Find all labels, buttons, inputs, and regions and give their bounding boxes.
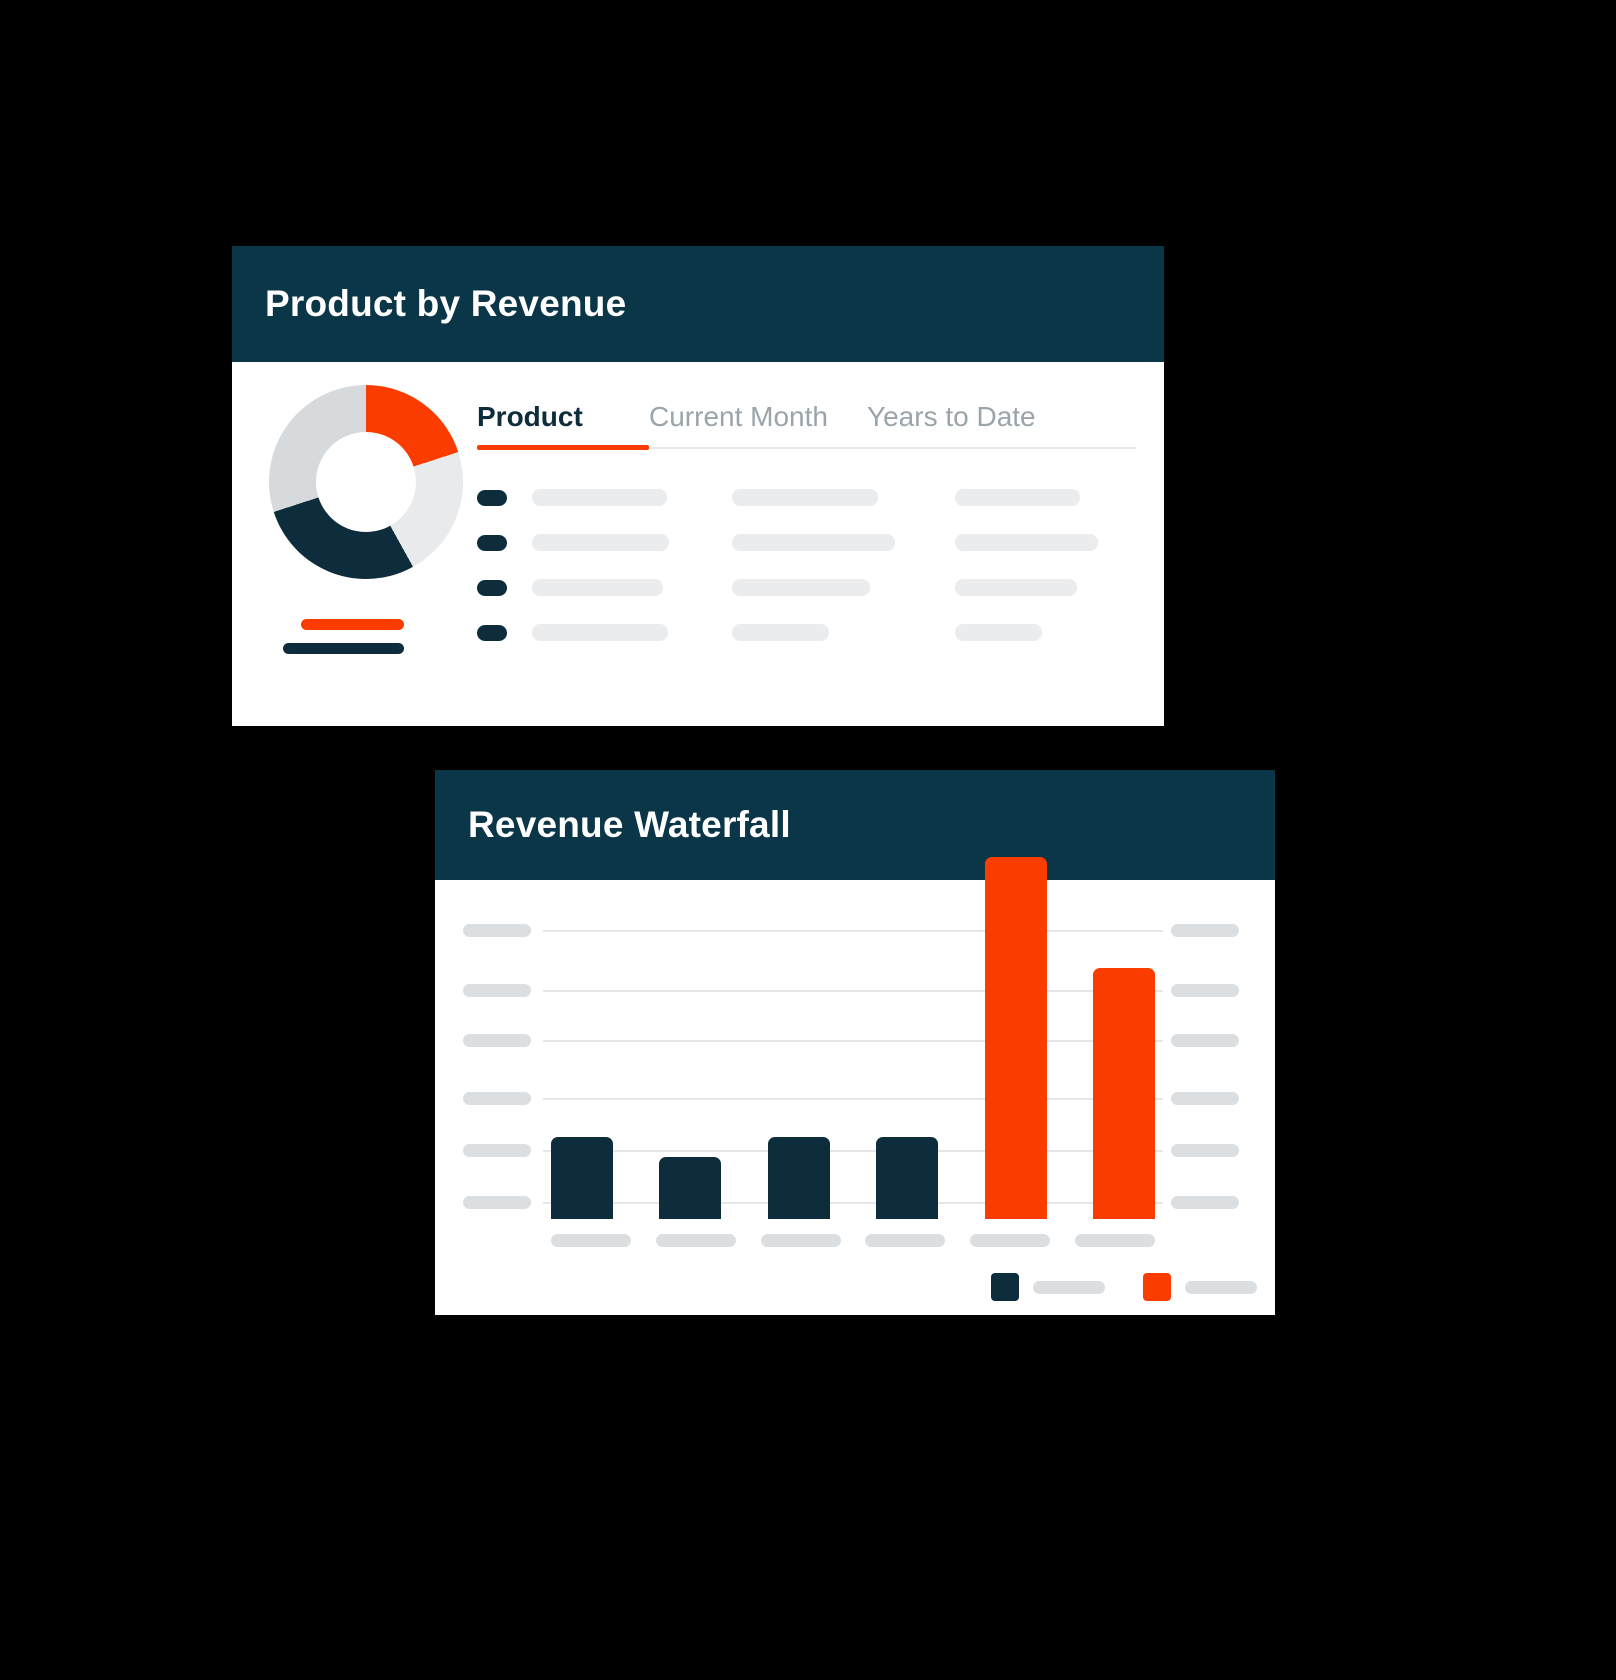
row-bullet-icon [477, 535, 507, 551]
bar[interactable] [551, 1137, 613, 1219]
waterfall-chart [435, 880, 1275, 1315]
bar[interactable] [768, 1137, 830, 1219]
axis-tick-placeholder [463, 1092, 531, 1105]
product-table-rows [477, 475, 1136, 655]
bar[interactable] [876, 1137, 938, 1219]
row-bullet-icon [477, 490, 507, 506]
product-content-row: Product Current Month Years to Date [232, 362, 1164, 667]
tab-product[interactable]: Product [477, 401, 649, 447]
donut-column [232, 362, 477, 667]
legend-label-placeholder [1033, 1281, 1105, 1294]
table-row[interactable] [477, 475, 1136, 520]
card-header-waterfall: Revenue Waterfall [435, 770, 1275, 880]
bar[interactable] [1093, 968, 1155, 1219]
x-axis-label-placeholder [970, 1234, 1050, 1247]
card-body-waterfall [435, 880, 1275, 1315]
bar-slot [551, 1137, 613, 1219]
bar-slot [768, 1137, 830, 1219]
axis-tick-placeholder [463, 924, 531, 937]
x-axis-label-placeholder [761, 1234, 841, 1247]
bar-slot [985, 857, 1047, 1219]
cell-placeholder [955, 489, 1080, 506]
cell-placeholder [955, 534, 1098, 551]
donut-legend-bar-orange [301, 619, 404, 630]
bar-slot [1093, 968, 1155, 1219]
axis-tick-placeholder [1171, 984, 1239, 997]
cell-placeholder [732, 534, 895, 551]
cell-placeholder [732, 489, 878, 506]
card-revenue-waterfall: Revenue Waterfall [435, 770, 1275, 1315]
axis-tick-placeholder [463, 984, 531, 997]
card-header-product: Product by Revenue [232, 246, 1164, 362]
chart-legend [435, 1273, 1275, 1301]
x-axis-label-placeholder [656, 1234, 736, 1247]
axis-tick-placeholder [1171, 1092, 1239, 1105]
legend-item[interactable] [991, 1273, 1105, 1301]
x-axis-label-placeholder [551, 1234, 631, 1247]
tab-bar: Product Current Month Years to Date [477, 387, 1136, 449]
x-axis-label-placeholder [1075, 1234, 1155, 1247]
donut-hole [316, 432, 416, 532]
cell-placeholder [532, 624, 668, 641]
waterfall-title: Revenue Waterfall [468, 804, 791, 846]
y-axis-labels-left [463, 880, 535, 1315]
axis-tick-placeholder [463, 1034, 531, 1047]
row-bullet-icon [477, 625, 507, 641]
legend-label-placeholder [1185, 1281, 1257, 1294]
page-title: Product by Revenue [265, 283, 626, 325]
x-axis-labels [543, 1234, 1163, 1247]
donut-legend-bar-teal [283, 643, 404, 654]
tab-current-month[interactable]: Current Month [649, 401, 867, 447]
donut-chart [269, 385, 463, 579]
table-row[interactable] [477, 610, 1136, 655]
card-product-by-revenue: Product by Revenue Product [232, 246, 1164, 726]
bar-slot [659, 1157, 721, 1219]
active-tab-underline [477, 445, 649, 450]
axis-tick-placeholder [1171, 924, 1239, 937]
table-row[interactable] [477, 520, 1136, 565]
axis-tick-placeholder [1171, 1196, 1239, 1209]
axis-tick-placeholder [463, 1196, 531, 1209]
tab-years-to-date[interactable]: Years to Date [867, 401, 1036, 447]
legend-item[interactable] [1143, 1273, 1257, 1301]
bar[interactable] [659, 1157, 721, 1219]
cell-placeholder [532, 579, 663, 596]
bar[interactable] [985, 857, 1047, 1219]
axis-tick-placeholder [1171, 1144, 1239, 1157]
table-row[interactable] [477, 565, 1136, 610]
cell-placeholder [732, 579, 870, 596]
cell-placeholder [532, 489, 667, 506]
card-body-product: Product Current Month Years to Date [232, 362, 1164, 726]
cell-placeholder [732, 624, 829, 641]
donut-legend [283, 619, 477, 654]
legend-swatch [1143, 1273, 1171, 1301]
bar-series [543, 880, 1163, 1219]
axis-tick-placeholder [1171, 1034, 1239, 1047]
legend-swatch [991, 1273, 1019, 1301]
screenshot-stage: Product by Revenue Product [0, 0, 1616, 1680]
cell-placeholder [532, 534, 669, 551]
product-table-column: Product Current Month Years to Date [477, 362, 1164, 667]
plot-area [543, 880, 1163, 1315]
x-axis-label-placeholder [865, 1234, 945, 1247]
row-bullet-icon [477, 580, 507, 596]
cell-placeholder [955, 579, 1077, 596]
cell-placeholder [955, 624, 1042, 641]
axis-tick-placeholder [463, 1144, 531, 1157]
y-axis-labels-right [1171, 880, 1243, 1315]
bar-slot [876, 1137, 938, 1219]
